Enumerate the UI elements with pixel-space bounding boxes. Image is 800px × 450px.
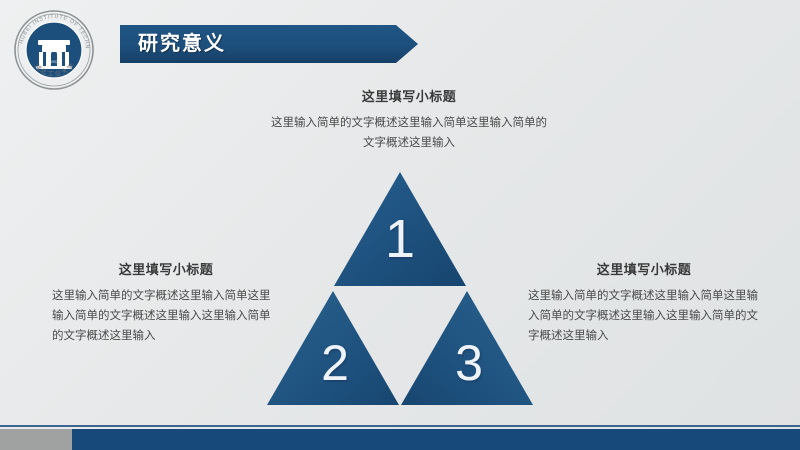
sierpinski-triangle-diagram: 1 2 3 xyxy=(258,165,546,413)
text-block-right-heading: 这里填写小标题 xyxy=(528,259,760,278)
triangle-number-2: 2 xyxy=(321,335,349,391)
text-block-left: 这里填写小标题 这里输入简单的文字概述这里输入简单这里输入简单的文字概述这里输入… xyxy=(52,259,280,346)
text-block-right: 这里填写小标题 这里输入简单的文字概述这里输入简单这里输入简单的文字概述这里输入… xyxy=(528,259,760,346)
slide-canvas: 1952 HUBEI INSTITUTE OF TECHNOLOGY 湖北工业大… xyxy=(0,0,800,450)
text-block-top: 这里填写小标题 这里输入简单的文字概述这里输入简单这里输入简单的文字概述这里输入 xyxy=(270,86,548,153)
section-title-banner: 研究意义 xyxy=(120,25,418,63)
svg-text:1952: 1952 xyxy=(50,60,58,64)
section-title-text: 研究意义 xyxy=(138,25,226,63)
triangle-number-3: 3 xyxy=(455,335,483,391)
triangle-number-1: 1 xyxy=(385,209,415,269)
university-seal-logo: 1952 HUBEI INSTITUTE OF TECHNOLOGY 湖北工业大… xyxy=(12,8,96,92)
text-block-left-body: 这里输入简单的文字概述这里输入简单这里输入简单的文字概述这里输入这里输入简单的文… xyxy=(52,286,280,346)
text-block-right-body: 这里输入简单的文字概述这里输入简单这里输入简单的文字概述这里输入这里输入简单的文… xyxy=(528,286,760,346)
footer-hairline xyxy=(0,425,800,427)
text-block-top-body: 这里输入简单的文字概述这里输入简单这里输入简单的文字概述这里输入 xyxy=(270,113,548,153)
text-block-left-heading: 这里填写小标题 xyxy=(52,259,280,278)
footer-bar xyxy=(0,429,800,450)
text-block-top-heading: 这里填写小标题 xyxy=(270,86,548,105)
footer-accent-block xyxy=(0,429,72,450)
